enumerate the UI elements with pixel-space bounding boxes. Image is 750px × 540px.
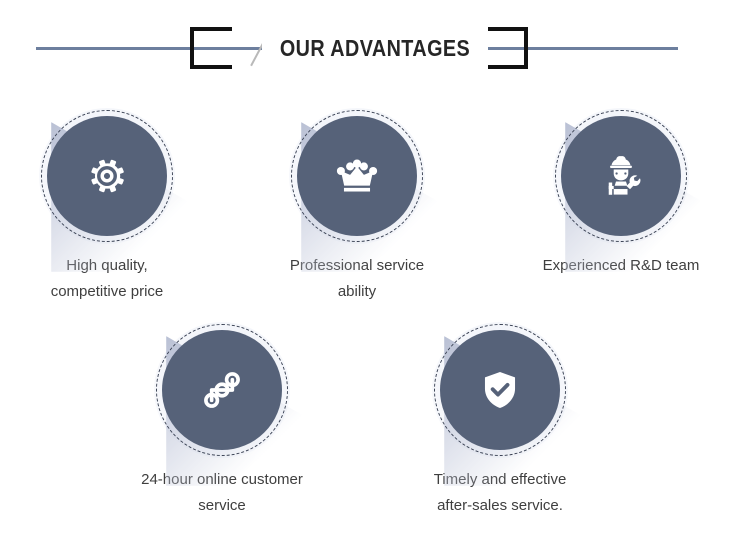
icon-disc <box>162 330 282 450</box>
shield-check-icon <box>478 368 522 412</box>
caption-line-2: after-sales service. <box>381 493 619 519</box>
advantage-icon-wrap <box>496 104 746 249</box>
advantage-icon-wrap <box>0 104 232 249</box>
advantage-card-after-sales[interactable]: Timely and effective after-sales service… <box>375 318 625 519</box>
crown-icon <box>334 153 380 199</box>
icon-disc <box>47 116 167 236</box>
advantage-icon-wrap <box>232 104 482 249</box>
caption-line-2: competitive price <box>0 279 226 305</box>
gear-icon <box>84 153 130 199</box>
advantage-card-professional-service[interactable]: Professional service ability <box>232 104 482 305</box>
advantages-banner: OUR ADVANTAGES High quality, competitive… <box>0 0 750 540</box>
network-nodes-icon <box>199 367 245 413</box>
advantage-icon-wrap <box>375 318 625 463</box>
caption-line-2: ability <box>238 279 476 305</box>
caption-line-2: service <box>103 493 341 519</box>
page-title-plate: OUR ADVANTAGES <box>262 27 488 69</box>
bracket-left-icon <box>190 27 232 69</box>
advantage-icon-wrap <box>97 318 347 463</box>
advantage-card-high-quality[interactable]: High quality, competitive price <box>0 104 232 305</box>
section-header: OUR ADVANTAGES <box>0 0 750 92</box>
engineer-wrench-icon <box>598 153 644 199</box>
page-title: OUR ADVANTAGES <box>278 27 472 69</box>
icon-disc <box>297 116 417 236</box>
advantage-card-online-service[interactable]: 24-hour online customer service <box>97 318 347 519</box>
bracket-right-icon <box>486 27 528 69</box>
icon-disc <box>440 330 560 450</box>
advantage-card-rd-team[interactable]: Experienced R&D team <box>496 104 746 279</box>
icon-disc <box>561 116 681 236</box>
